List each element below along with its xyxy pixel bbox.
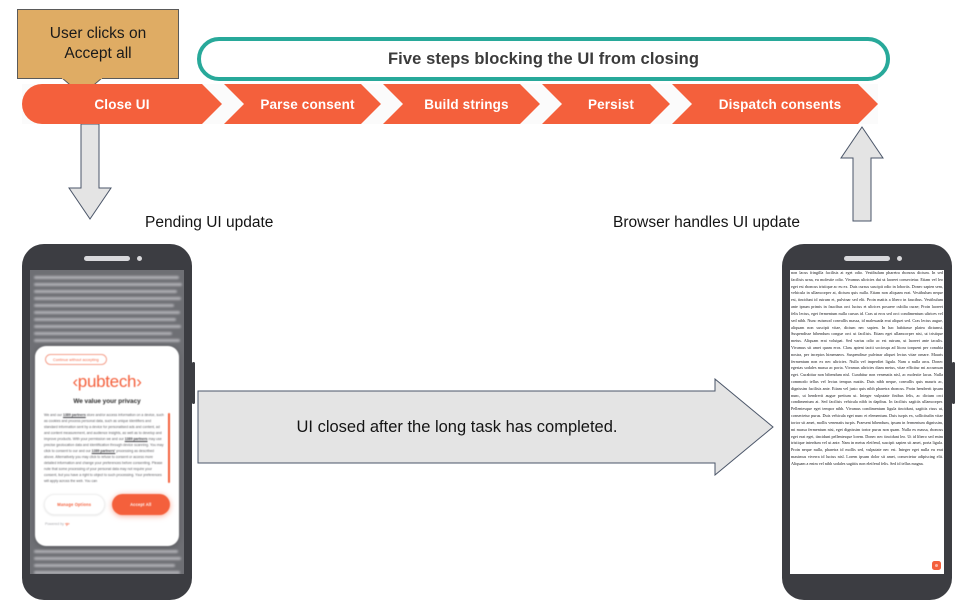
step-chevron-1-label: Close UI <box>94 97 149 112</box>
floating-action-badge[interactable] <box>932 561 941 570</box>
phone-mockup-before: Continue without accepting ‹pubtech› We … <box>22 244 192 600</box>
consent-scrollbar[interactable] <box>168 413 170 483</box>
browser-handles-ui-update-label: Browser handles UI update <box>613 214 800 232</box>
step-chevron-5[interactable]: Dispatch consents <box>672 84 878 124</box>
pubtech-logo: ‹pubtech› <box>35 372 179 392</box>
step-chevron-3-label: Build strings <box>414 97 508 112</box>
continue-without-accepting-button[interactable]: Continue without accepting <box>45 354 107 365</box>
powered-by-prefix: Powered by <box>45 522 65 526</box>
phone-speaker-icon <box>844 256 890 261</box>
title-banner-label: Five steps blocking the UI from closing <box>388 50 699 69</box>
ui-closed-transition-label: UI closed after the long task has comple… <box>197 378 717 476</box>
article-body-text: non lacus fringilla facilisis at eget od… <box>790 270 944 468</box>
browser-ui-arrow-up-icon <box>840 126 884 222</box>
phone-screen-after: non lacus fringilla facilisis at eget od… <box>790 270 944 574</box>
powered-by-label: Powered by ‹p› <box>45 522 70 526</box>
consent-button-row: Manage Options Accept All <box>44 494 170 515</box>
powered-by-brand: ‹p› <box>65 522 70 526</box>
phone-mockup-after: non lacus fringilla facilisis at eget od… <box>782 244 952 600</box>
user-action-callout: User clicks on Accept all <box>17 9 179 79</box>
step-chevron-4-label: Persist <box>578 97 634 112</box>
phone-side-button[interactable] <box>952 362 955 404</box>
step-chevron-2[interactable]: Parse consent <box>224 84 381 124</box>
phone-camera-icon <box>137 256 142 261</box>
manage-options-button[interactable]: Manage Options <box>44 494 105 515</box>
step-chevron-5-label: Dispatch consents <box>709 97 842 112</box>
title-banner: Five steps blocking the UI from closing <box>197 37 890 81</box>
pending-ui-arrow-down-icon <box>68 124 112 220</box>
step-chevron-1[interactable]: Close UI <box>22 84 222 124</box>
phone-side-button[interactable] <box>192 362 195 404</box>
diagram-canvas: User clicks on Accept all Five steps blo… <box>0 0 970 608</box>
article-page[interactable]: non lacus fringilla facilisis at eget od… <box>790 270 944 574</box>
step-chevron-3[interactable]: Build strings <box>383 84 540 124</box>
pending-ui-update-label: Pending UI update <box>145 214 273 232</box>
consent-heading: We value your privacy <box>35 398 179 405</box>
consent-dialog: Continue without accepting ‹pubtech› We … <box>35 346 179 546</box>
consent-body-text: We and our 1389 partners store and/or ac… <box>44 412 165 484</box>
phone-screen-before: Continue without accepting ‹pubtech› We … <box>30 270 184 574</box>
consent-body-paragraph: We and our 1389 partners store and/or ac… <box>44 412 165 484</box>
phone-speaker-icon <box>84 256 130 261</box>
accept-all-button[interactable]: Accept All <box>112 494 171 515</box>
process-step-band: Close UI Parse consent Build strings Per… <box>22 84 878 124</box>
phone-camera-icon <box>897 256 902 261</box>
step-chevron-2-label: Parse consent <box>250 97 354 112</box>
user-action-callout-label: User clicks on Accept all <box>50 24 146 64</box>
